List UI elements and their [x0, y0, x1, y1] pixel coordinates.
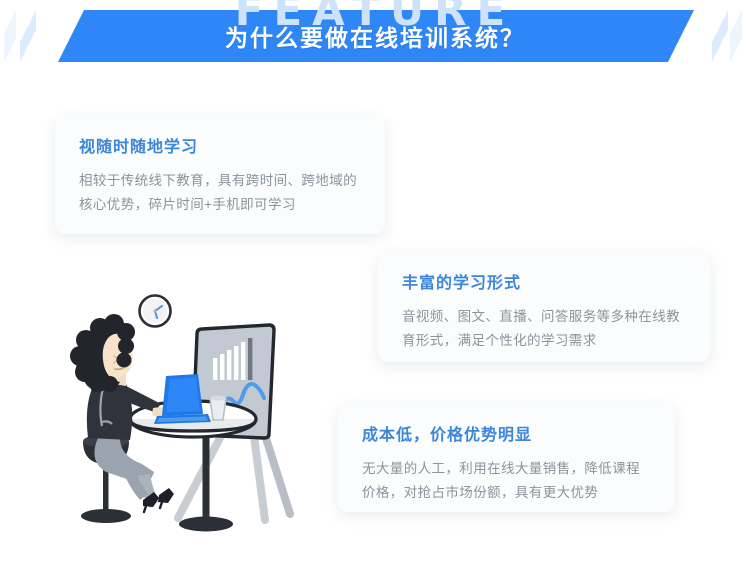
wall-clock-icon	[140, 296, 171, 327]
feature-card-anytime-anywhere[interactable]: 视随时随地学习 相较于传统线下教育，具有跨时间、跨地域的核心优势，碎片时间+手机…	[55, 116, 385, 234]
coffee-cup-icon	[210, 395, 226, 420]
feature-card-title: 视随时随地学习	[79, 138, 361, 157]
feature-card-rich-formats[interactable]: 丰富的学习形式 音视频、图文、直播、问答服务等多种在线教育形式，满足个性化的学习…	[378, 252, 710, 362]
feature-card-title: 成本低，价格优势明显	[362, 426, 651, 445]
feature-card-body: 相较于传统线下教育，具有跨时间、跨地域的核心优势，碎片时间+手机即可学习	[79, 169, 361, 217]
feature-card-body: 无大量的人工，利用在线大量销售，降低课程价格，对抢占市场份额，具有更大优势	[362, 457, 651, 505]
illustration-woman-at-desk	[58, 286, 358, 546]
page-title: 为什么要做在线培训系统？	[0, 10, 750, 62]
feature-card-body: 音视频、图文、直播、问答服务等多种在线教育形式，满足个性化的学习需求	[402, 305, 686, 353]
feature-card-title: 丰富的学习形式	[402, 274, 686, 293]
feature-card-low-cost[interactable]: 成本低，价格优势明显 无大量的人工，利用在线大量销售，降低课程价格，对抢占市场份…	[338, 404, 675, 512]
woman-figure	[70, 314, 174, 512]
flipchart-tripod-legs	[178, 432, 290, 520]
page-root: FEATURE 为什么要做在线培训系统？	[0, 0, 750, 564]
